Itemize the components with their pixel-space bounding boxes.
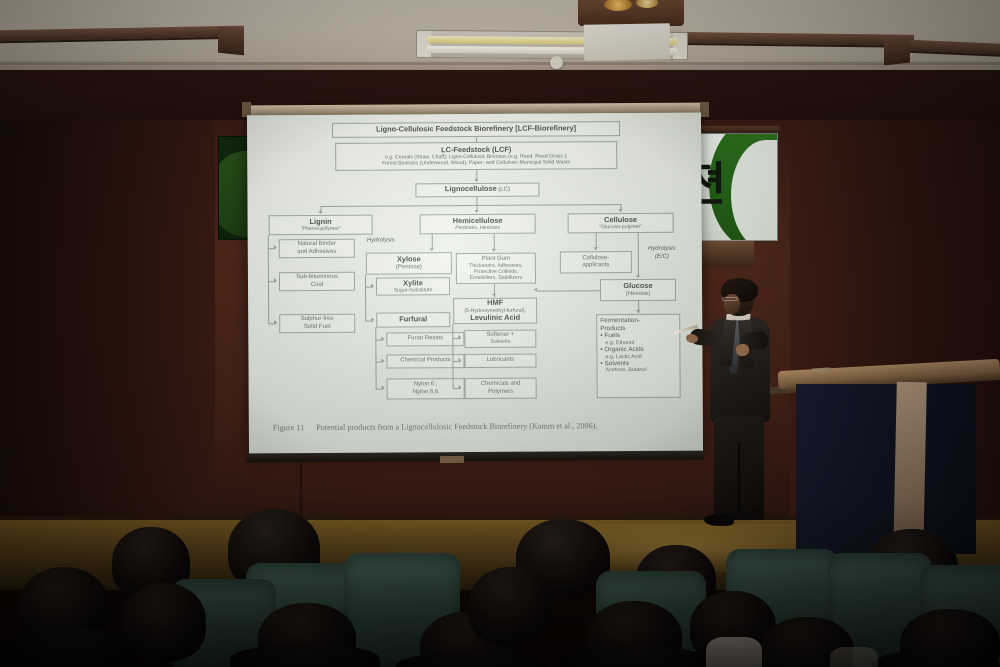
- arrow: [274, 246, 277, 250]
- hydrolysis-ec-label-line2: (E/C): [638, 254, 686, 261]
- audience-head: [468, 567, 554, 645]
- audience-light-shirt: [830, 647, 878, 667]
- figure-number: Figure 11: [273, 423, 304, 432]
- projector-paper-sheet: [584, 23, 671, 60]
- figure-caption-text: Potential products from a Lignocellulosi…: [316, 421, 597, 432]
- lc-feedstock-title: LC-Feedstock (LCF): [441, 145, 511, 154]
- product-line1: Lubricants: [487, 357, 515, 364]
- arrow: [635, 275, 639, 278]
- arrow: [458, 358, 461, 362]
- audience: [0, 505, 1000, 667]
- product-line1: Chemical Products: [400, 358, 450, 365]
- lignin-sub: “Phenol-polymer”: [301, 226, 341, 232]
- lignin-product-box: Sulphur-free Solid Fuel: [279, 314, 355, 333]
- product-line2: Nylon 6,6: [413, 389, 438, 396]
- slide-title-box: Ligno-Cellulosic Feedstock Biorefinery […: [332, 121, 620, 138]
- plant-gum-box: Plant Gum Thickeners, Adhesives, Protect…: [456, 253, 536, 284]
- fermentation-item-bullet: • Fuels: [600, 332, 620, 340]
- glucose-title: Glucose: [623, 282, 652, 291]
- fermentation-products-box: Fermentation- Products • Fuels e.g. Etha…: [596, 314, 681, 399]
- xylose-title: Xylose: [397, 255, 421, 264]
- lignocellulose-abbrev: (LC): [497, 187, 510, 193]
- screen-roller-cap-right: [700, 102, 709, 117]
- furfural-box: Furfural: [376, 312, 450, 327]
- arrow: [274, 321, 277, 325]
- lc-feedstock-line2: Forest Biomass (Underwood, Wood); Paper-…: [382, 160, 570, 167]
- lignin-box: Lignin “Phenol-polymer”: [269, 215, 373, 236]
- xylose-sub: (Pentose): [396, 264, 422, 271]
- ceiling-beam-right: [906, 40, 1000, 58]
- cellulose-sub: “Glucose-polymer”: [599, 224, 642, 230]
- audience-shoulders: [230, 645, 380, 667]
- arrow: [636, 310, 640, 313]
- arrow: [534, 288, 537, 292]
- ceiling-beam-cap-left: [218, 27, 244, 56]
- connector: [321, 204, 621, 207]
- wall-left-shadow: [0, 120, 215, 550]
- product-line2: and Adhesives: [297, 248, 336, 255]
- xylose-box: Xylose (Pentose): [366, 252, 452, 275]
- fermentation-item-detail: Acetone, Butanol: [601, 367, 647, 374]
- hemicellulose-sub: Pentoses, Hexoses: [455, 225, 500, 231]
- connector: [476, 197, 477, 205]
- audience-shoulders: [0, 629, 138, 667]
- furfural-title: Furfural: [399, 315, 427, 324]
- arrow: [593, 247, 597, 250]
- lignocellulose-box: Lignocellulose (LC): [415, 183, 539, 198]
- arrow: [458, 335, 461, 339]
- ceiling: [0, 0, 1000, 78]
- arrow: [459, 385, 462, 389]
- lecture-hall-scene: 젼 Ligno-Cellulosic Feedstock Biorefinery…: [0, 0, 1000, 667]
- connector: [638, 233, 639, 277]
- projector-lamp-glow: [636, 0, 658, 8]
- xylite-title: Xylite: [403, 279, 423, 288]
- projector-lens-icon: [604, 0, 632, 11]
- fermentation-item-bullet: • Solvents: [600, 360, 629, 368]
- hmf-product-box: Chemicals and Polymers: [465, 378, 537, 399]
- lignocellulose-title: Lignocellulose: [445, 184, 497, 193]
- screen-bottom-weight: [440, 456, 464, 463]
- slide-title: Ligno-Cellulosic Feedstock Biorefinery […: [376, 125, 576, 135]
- glucose-box: Glucose (Hexose): [600, 279, 676, 301]
- ceiling-light-knob: [550, 56, 563, 69]
- product-line2: Solid Fuel: [304, 323, 331, 330]
- arrow: [618, 209, 622, 212]
- product-line2: Polymers: [488, 388, 513, 395]
- fermentation-title-line1: Fermentation-: [600, 317, 640, 325]
- xylite-box: Xylite Sugar-Substitute: [376, 277, 450, 295]
- hydrolysis-ec-label-line1: Hydrolysis: [638, 246, 686, 253]
- audience-shoulders: [396, 653, 548, 667]
- cellulose-title: Cellulose: [604, 216, 637, 225]
- xylite-sub: Sugar-Substitute: [394, 288, 433, 294]
- arrow: [429, 248, 433, 251]
- product-line1: Furan Resins: [407, 336, 443, 343]
- connector: [365, 275, 366, 321]
- connector: [375, 328, 376, 389]
- arrow: [274, 279, 277, 283]
- arrow: [381, 359, 384, 363]
- arrow: [474, 210, 478, 213]
- ceiling-projector: [578, 0, 684, 26]
- audience-shoulders: [872, 651, 1000, 667]
- ceiling-seam: [0, 62, 1000, 65]
- hemicellulose-box: Hemicellulose Pentoses, Hexoses: [420, 214, 536, 235]
- presenter-glasses-icon: [722, 297, 738, 301]
- glucose-sub: (Hexose): [626, 291, 650, 298]
- connector: [537, 290, 600, 291]
- lignin-product-box: Sub-bituminous Coal: [279, 272, 355, 291]
- levulinic-acid-title: Levulinic Acid: [470, 314, 520, 323]
- lignin-product-box: Natural Binder and Adhesives: [279, 239, 355, 258]
- hmf-box: HMF (5-Hydroxymethyl-furfural), Levulini…: [453, 298, 537, 325]
- arrow: [382, 386, 385, 390]
- audience-shoulders: [560, 647, 710, 667]
- applicants-line2: applicants: [582, 262, 609, 269]
- slide-diagram: Ligno-Cellulosic Feedstock Biorefinery […: [247, 113, 703, 456]
- arrow: [491, 249, 495, 252]
- product-line2: Coal: [311, 281, 323, 288]
- hmf-title: HMF: [487, 299, 503, 308]
- fermentation-title-line2: Products: [600, 325, 625, 333]
- product-line2: Solvents: [490, 339, 510, 345]
- hmf-product-box: Softener + Solvents: [464, 330, 536, 348]
- arrow: [318, 211, 322, 214]
- lignin-title: Lignin: [309, 217, 331, 226]
- presenter: [688, 282, 808, 530]
- plant-gum-line3: Emulsifiers, Stabilizers: [470, 275, 522, 281]
- cellulose-applicants-box: Cellulose- applicants: [560, 251, 632, 273]
- ceiling-beam-cap-right: [884, 37, 910, 66]
- audience-light-shirt: [706, 637, 762, 667]
- arrow: [371, 284, 374, 288]
- hemicellulose-title: Hemicellulose: [453, 216, 503, 225]
- lc-feedstock-box: LC-Feedstock (LCF) e.g. Cereals (Straw, …: [335, 141, 617, 171]
- hydrolysis-label: Hydrolysis: [356, 237, 406, 244]
- arrow: [371, 318, 374, 322]
- figure-caption: Figure 11Potential products from a Ligno…: [273, 421, 693, 433]
- arrow: [492, 294, 496, 297]
- arrow: [474, 179, 478, 182]
- ceiling-beam-left: [0, 26, 244, 44]
- arrow: [381, 337, 384, 341]
- projection-screen: Ligno-Cellulosic Feedstock Biorefinery […: [247, 113, 703, 456]
- hmf-product-box: Lubricants: [464, 354, 536, 368]
- cellulose-box: Cellulose “Glucose-polymer”: [568, 213, 674, 234]
- presenter-leg-split: [738, 442, 740, 514]
